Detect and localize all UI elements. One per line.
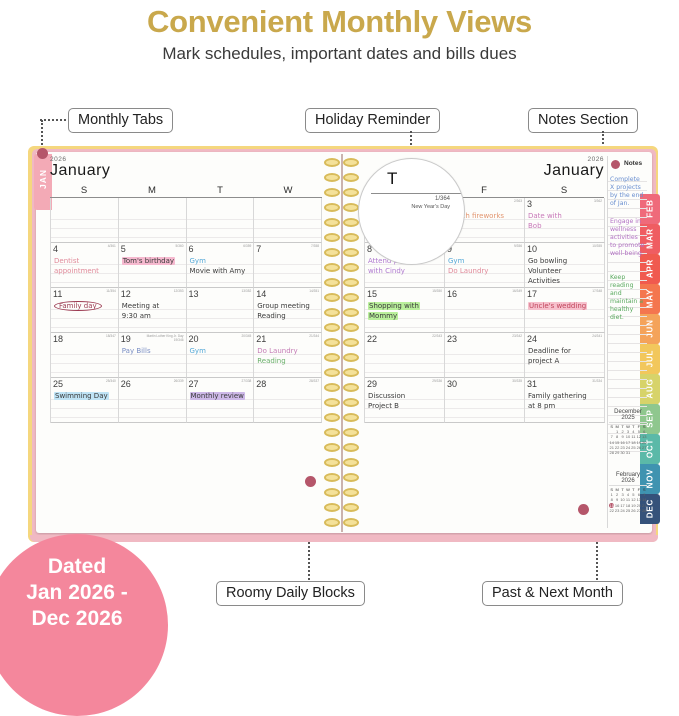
mini-cal-day[interactable]: 25 (631, 445, 636, 450)
day-of-year-and-holiday: 10/355 (592, 245, 602, 249)
day-event[interactable]: Meeting at (122, 302, 184, 312)
mini-cal-day[interactable] (642, 450, 647, 455)
mini-cal-day[interactable]: 12 (631, 497, 636, 502)
note-rule-line (608, 389, 647, 398)
event-text: Gym (448, 257, 464, 265)
day-of-year-and-holiday: Martin Luther King Jr. Day19/346 (147, 335, 184, 342)
cell-rule-lines (119, 211, 186, 242)
day-of-year-and-holiday: 29/336 (432, 380, 442, 384)
calendar-week-row: 44/361Dentistappointment55/360Tom's birt… (51, 243, 322, 288)
day-of-year-and-holiday: 9/356 (514, 245, 522, 249)
event-text: Monthly review (190, 392, 245, 400)
event-text: Discussion (368, 392, 405, 400)
mini-cal-day[interactable]: 30 (620, 450, 625, 455)
day-event[interactable]: appointment (54, 267, 116, 277)
calendar-day-cell[interactable]: 55/360Tom's birthday (119, 243, 187, 288)
calendar-day-cell[interactable]: 19Martin Luther King Jr. Day19/346Pay Bi… (119, 333, 187, 378)
mini-cal-day[interactable]: 25 (625, 508, 630, 513)
mini-cal-day[interactable]: 13 (636, 497, 641, 502)
day-number: 15 (367, 289, 377, 299)
calendar-day-cell[interactable]: 44/361Dentistappointment (51, 243, 119, 288)
day-number: 13 (189, 289, 199, 299)
mini-calendar-table: SMTWTFS123456789101112131415161718192021… (609, 424, 647, 455)
day-event[interactable]: Bob (528, 222, 602, 232)
calendar-day-cell[interactable] (119, 198, 187, 243)
cell-rule-lines (51, 211, 118, 242)
calendar-day-cell[interactable]: 1414/351Group meetingReading (254, 288, 322, 333)
calendar-day-cell[interactable]: 2323/342 (445, 333, 525, 378)
calendar-day-cell[interactable]: 1818/347 (51, 333, 119, 378)
spiral-coil (324, 338, 360, 347)
event-text: Go bowling (528, 257, 567, 265)
calendar-day-cell[interactable]: 3030/335 (445, 378, 525, 423)
calendar-week-row: 1818/34719Martin Luther King Jr. Day19/3… (51, 333, 322, 378)
calendar-day-cell[interactable]: 2727/338Monthly review (187, 378, 255, 423)
mini-cal-day[interactable]: 26 (631, 508, 636, 513)
mini-cal-day[interactable]: 10 (620, 497, 625, 502)
calendar-day-cell[interactable]: 33/362Date withBob (525, 198, 605, 243)
mini-cal-day[interactable]: 10 (625, 434, 630, 439)
page-left-month: January (50, 162, 322, 180)
mini-cal-day[interactable]: 11 (631, 434, 636, 439)
day-of-year-and-holiday: 20/345 (242, 335, 252, 339)
day-number: 31 (527, 379, 537, 389)
spiral-coil (324, 353, 360, 362)
calendar-day-cell[interactable]: 2525/340Swimming Day (51, 378, 119, 423)
magnifier-holiday-name: New Year's Day (411, 204, 450, 210)
calendar-grid-left[interactable]: 44/361Dentistappointment55/360Tom's birt… (50, 198, 322, 423)
badge-line-2: Jan 2026 - (0, 580, 168, 606)
note-rule-line (608, 398, 647, 407)
day-number: 6 (189, 244, 194, 254)
cell-rule-lines (119, 391, 186, 422)
calendar-day-cell[interactable]: 1010/355Go bowlingVolunteerActivities (525, 243, 605, 288)
day-event[interactable]: Mommy (368, 312, 442, 322)
event-text: Family gathering (528, 392, 587, 400)
event-text: Deadline for (528, 347, 571, 355)
note-rule-line (608, 326, 647, 335)
calendar-day-cell[interactable]: 2929/336DiscussionProject B (365, 378, 445, 423)
marker-dot-daily-blocks (305, 476, 316, 487)
weekday-left: T (186, 185, 254, 196)
event-text: with Cindy (368, 267, 405, 275)
mini-cal-day[interactable]: 23 (614, 508, 619, 513)
marker-dot-monthly-tabs (37, 148, 48, 159)
weekday-header-left: SMTW (50, 185, 322, 198)
dated-range-text: Dated Jan 2026 - Dec 2026 (0, 554, 168, 632)
day-of-year-and-holiday: 28/337 (309, 380, 319, 384)
day-event[interactable]: 9:30 am (122, 312, 184, 322)
day-number: 19 (121, 334, 131, 344)
day-of-year-and-holiday: 15/350 (432, 290, 442, 294)
cell-rule-lines (445, 301, 524, 332)
page-left-header: 2026 January (50, 156, 322, 180)
spiral-coil (324, 398, 360, 407)
mini-cal-day[interactable]: 13 (642, 434, 647, 439)
badge-line-3: Dec 2026 (0, 606, 168, 632)
day-event[interactable]: Project B (368, 402, 442, 412)
day-event[interactable]: Movie with Amy (190, 267, 252, 277)
leader-monthly-tabs-h (40, 119, 66, 121)
weekday-left: S (50, 185, 118, 196)
planner-cover-bottom-edge (30, 535, 658, 542)
spiral-coil (324, 173, 360, 182)
day-of-year-and-holiday: 7/358 (311, 245, 319, 249)
day-of-year-and-holiday: 21/344 (309, 335, 319, 339)
event-text: Family day (54, 301, 102, 311)
cell-rule-lines (254, 211, 321, 242)
day-event[interactable]: project A (528, 357, 602, 367)
event-text: at 8 pm (528, 402, 555, 410)
event-text: Swimming Day (54, 392, 109, 400)
event-text: Date with (528, 212, 562, 220)
holiday-reminder-magnifier: T 1/364 New Year's Day (358, 158, 465, 265)
day-event[interactable]: Discussion (368, 392, 442, 402)
mini-calendar-table: SMTWTFS123456789101112131415161718192021… (609, 487, 647, 513)
mini-cal-day[interactable]: 24 (620, 508, 625, 513)
calendar-week-row: 2929/336DiscussionProject B3030/3353131/… (365, 378, 605, 423)
cell-rule-lines (365, 346, 444, 377)
event-text: Activities (528, 277, 560, 285)
cell-rule-lines (254, 391, 321, 422)
event-text: Group meeting (257, 302, 310, 310)
weekday-left: M (118, 185, 186, 196)
mini-cal-day[interactable]: 27 (642, 445, 647, 450)
day-of-year-and-holiday: 2/363 (514, 200, 522, 204)
badge-line-1: Dated (0, 554, 168, 580)
spiral-coil (324, 323, 360, 332)
month-tab-jan-label: JAN (38, 160, 48, 198)
day-event[interactable]: Date with (528, 212, 602, 222)
day-of-year-and-holiday: 25/340 (106, 380, 116, 384)
calendar-day-cell[interactable]: 99/356GymDo Laundry (445, 243, 525, 288)
mini-cal-day[interactable]: 11 (625, 497, 630, 502)
event-text: Pay Bills (122, 347, 151, 355)
day-event[interactable]: Dentist (54, 257, 116, 267)
calendar-day-cell[interactable]: 1616/349 (445, 288, 525, 333)
day-of-year-and-holiday: 14/351 (309, 290, 319, 294)
note-rule-line (608, 209, 647, 218)
day-number: 17 (527, 289, 537, 299)
day-number: 28 (256, 379, 266, 389)
calendar-day-cell[interactable] (187, 198, 255, 243)
day-number: 29 (367, 379, 377, 389)
day-number: 7 (256, 244, 261, 254)
day-event[interactable]: Family day (54, 302, 116, 312)
calendar-day-cell[interactable]: 2828/337 (254, 378, 322, 423)
day-number: 22 (367, 334, 377, 344)
calendar-day-cell[interactable]: 1515/350Shopping withMommy (365, 288, 445, 333)
note-rule-line (608, 335, 647, 344)
day-number: 18 (53, 334, 63, 344)
day-number: 16 (447, 289, 457, 299)
note-entry[interactable]: Keep reading and maintain a healthy diet… (610, 274, 646, 322)
event-text: Mommy (368, 312, 398, 320)
calendar-day-cell[interactable]: 2020/345Gym (187, 333, 255, 378)
callout-past-next-month: Past & Next Month (482, 581, 623, 606)
event-text: Gym (190, 257, 206, 265)
day-number: 25 (53, 379, 63, 389)
day-number: 20 (189, 334, 199, 344)
calendar-week-row: 2222/3432323/3422424/341Deadline forproj… (365, 333, 605, 378)
day-of-year-and-holiday: 16/349 (512, 290, 522, 294)
event-text: Uncle's wedding (528, 302, 587, 310)
calendar-day-cell[interactable]: 2424/341Deadline forproject A (525, 333, 605, 378)
callout-notes-section: Notes Section (528, 108, 638, 133)
planner-spread: JAN FEBMARAPRMAYJUNJULAUGSEPOCTNOVDEC 20… (28, 146, 658, 546)
day-of-year-and-holiday: 17/348 (592, 290, 602, 294)
spiral-binding (324, 154, 360, 532)
cell-rule-lines (445, 346, 524, 377)
day-event[interactable]: Reading (257, 357, 319, 367)
event-text: Shopping with (368, 302, 420, 310)
mini-calendar-title: December 2025 (609, 409, 647, 423)
day-event[interactable]: Swimming Day (54, 392, 116, 402)
callout-roomy-daily-blocks: Roomy Daily Blocks (216, 581, 365, 606)
calendar-day-cell[interactable]: 1212/353Meeting at9:30 am (119, 288, 187, 333)
calendar-day-cell[interactable]: 2222/343 (365, 333, 445, 378)
event-text: appointment (54, 267, 99, 275)
spiral-coil (324, 518, 360, 527)
calendar-day-cell[interactable]: 77/358 (254, 243, 322, 288)
notes-section[interactable]: Notes Complete X projects by the end of … (607, 156, 647, 528)
spiral-coil (324, 413, 360, 422)
note-rule-line (608, 263, 647, 272)
spiral-coil (324, 248, 360, 257)
mini-cal-day[interactable]: 31 (625, 450, 630, 455)
notes-dot-icon (611, 160, 620, 169)
event-text: Reading (257, 312, 285, 320)
spiral-coil (324, 203, 360, 212)
event-text: Do Laundry (257, 347, 297, 355)
spiral-coil (324, 503, 360, 512)
event-text: project A (528, 357, 559, 365)
mini-cal-day[interactable]: 28 (609, 450, 614, 455)
event-text: Project B (368, 402, 399, 410)
day-event[interactable]: Tom's birthday (122, 257, 184, 267)
calendar-day-cell[interactable]: 2121/344Do LaundryReading (254, 333, 322, 378)
spiral-coil (324, 218, 360, 227)
day-event[interactable]: Deadline for (528, 347, 602, 357)
calendar-day-cell[interactable]: 66/359GymMovie with Amy (187, 243, 255, 288)
day-of-year-and-holiday: 18/347 (106, 335, 116, 339)
day-of-year-and-holiday: 27/338 (242, 380, 252, 384)
callout-holiday-reminder: Holiday Reminder (305, 108, 440, 133)
spiral-coil (324, 188, 360, 197)
day-event[interactable]: Reading (257, 312, 319, 322)
day-event[interactable]: Group meeting (257, 302, 319, 312)
day-event[interactable]: Pay Bills (122, 347, 184, 357)
day-event[interactable]: Activities (528, 277, 602, 287)
spiral-coil (324, 233, 360, 242)
mini-calendar: December 2025SMTWTFS12345678910111213141… (609, 409, 647, 455)
notes-title: Notes (624, 160, 642, 167)
day-event[interactable]: Gym (448, 257, 522, 267)
day-event[interactable]: Do Laundry (257, 347, 319, 357)
calendar-page-left: 2026 January SMTW 44/361Dentistappointme… (50, 156, 322, 528)
day-of-year-and-holiday: 13/352 (242, 290, 252, 294)
mini-cal-day[interactable]: 12 (636, 434, 641, 439)
day-event[interactable]: Uncle's wedding (528, 302, 602, 312)
calendar-week-row: 2525/340Swimming Day2626/3392727/338Mont… (51, 378, 322, 423)
magnifier-weekday: T (387, 169, 397, 189)
mini-calendar: February 2026SMTWTFS12345678910111213141… (609, 472, 647, 513)
calendar-week-row (51, 198, 322, 243)
note-rule-line (608, 371, 647, 380)
day-of-year-and-holiday: 23/342 (512, 335, 522, 339)
spiral-coil (324, 458, 360, 467)
day-of-year-and-holiday: 22/343 (432, 335, 442, 339)
day-of-year-and-holiday: 12/353 (174, 290, 184, 294)
event-text: Bob (528, 222, 542, 230)
cell-rule-lines (187, 301, 254, 332)
day-number: 10 (527, 244, 537, 254)
cell-rule-lines (51, 346, 118, 377)
calendar-day-cell[interactable]: 3131/334Family gatheringat 8 pm (525, 378, 605, 423)
day-of-year-and-holiday: 26/339 (174, 380, 184, 384)
day-event[interactable]: Gym (190, 347, 252, 357)
day-event[interactable]: at 8 pm (528, 402, 602, 412)
mini-cal-day[interactable]: 22 (609, 508, 614, 513)
event-text: 9:30 am (122, 312, 151, 320)
day-number: 24 (527, 334, 537, 344)
mini-cal-day[interactable]: 26 (636, 445, 641, 450)
calendar-day-cell[interactable]: 1313/352 (187, 288, 255, 333)
day-of-year-and-holiday: 24/341 (592, 335, 602, 339)
note-entry[interactable]: Complete X projects by the end of Jan. (610, 176, 646, 208)
mini-cal-day[interactable]: 28 (642, 508, 647, 513)
cell-rule-lines (445, 391, 524, 422)
spiral-coil (324, 443, 360, 452)
calendar-day-cell[interactable]: 1717/348Uncle's wedding (525, 288, 605, 333)
cell-rule-lines (254, 256, 321, 287)
calendar-day-cell[interactable]: 1111/354Family day (51, 288, 119, 333)
calendar-week-row: 1515/350Shopping withMommy1616/3491717/3… (365, 288, 605, 333)
note-rule-line (608, 362, 647, 371)
day-number: 23 (447, 334, 457, 344)
marker-dot-past-next-month (578, 504, 589, 515)
day-number: 26 (121, 379, 131, 389)
day-event[interactable]: Gym (190, 257, 252, 267)
day-number: 11 (53, 289, 62, 299)
weekday-left: W (254, 185, 322, 196)
spiral-coil (324, 293, 360, 302)
note-rule-line (608, 380, 647, 389)
day-event[interactable]: Shopping with (368, 302, 442, 312)
spiral-coil (324, 158, 360, 167)
day-event[interactable]: Go bowling (528, 257, 602, 267)
page-title: Convenient Monthly Views (0, 4, 679, 40)
magnifier-rule (371, 193, 463, 194)
day-of-year-and-holiday: 31/334 (592, 380, 602, 384)
spiral-coil (324, 473, 360, 482)
day-number: 30 (447, 379, 457, 389)
event-text: Do Laundry (448, 267, 488, 275)
spiral-coil (324, 263, 360, 272)
event-text: Movie with Amy (190, 267, 246, 275)
mini-cal-day[interactable]: 29 (614, 450, 619, 455)
event-text: Dentist (54, 257, 79, 265)
calendar-week-row: 1111/354Family day1212/353Meeting at9:30… (51, 288, 322, 333)
spiral-coil (324, 428, 360, 437)
day-of-year-and-holiday: 30/335 (512, 380, 522, 384)
day-number: 21 (256, 334, 266, 344)
day-event[interactable]: Monthly review (190, 392, 252, 402)
day-number: 5 (121, 244, 126, 254)
day-number: 4 (53, 244, 58, 254)
event-text: Volunteer (528, 267, 562, 275)
spiral-coil (324, 278, 360, 287)
dated-range-badge: Dated Jan 2026 - Dec 2026 (0, 534, 168, 716)
spiral-coil (324, 488, 360, 497)
event-text: Tom's birthday (122, 257, 175, 265)
spiral-coil (324, 368, 360, 377)
notes-header: Notes (608, 156, 647, 173)
mini-cal-day[interactable]: 27 (636, 508, 641, 513)
day-event[interactable]: Volunteer (528, 267, 602, 277)
cell-rule-lines (187, 211, 254, 242)
day-number: 3 (527, 199, 532, 209)
day-number: 12 (121, 289, 131, 299)
day-of-year-and-holiday: 5/360 (176, 245, 184, 249)
calendar-day-cell[interactable] (254, 198, 322, 243)
event-text: Reading (257, 357, 285, 365)
mini-calendar-title: February 2026 (609, 472, 647, 486)
day-of-year-and-holiday: 6/359 (243, 245, 251, 249)
calendar-day-cell[interactable] (51, 198, 119, 243)
event-text: Meeting at (122, 302, 159, 310)
day-event[interactable]: Family gathering (528, 392, 602, 402)
day-of-year-and-holiday: 11/354 (106, 290, 116, 294)
day-number: 27 (189, 379, 199, 389)
note-rule-line (608, 353, 647, 362)
day-event[interactable]: with Cindy (368, 267, 442, 277)
note-rule-line (608, 344, 647, 353)
event-text: Gym (190, 347, 206, 355)
spiral-coil (324, 383, 360, 392)
magnifier-day-of-year: 1/364 (435, 196, 450, 202)
note-entry[interactable]: Engage in wellness activities to promote… (610, 218, 646, 258)
mini-cal-day[interactable]: 14 (642, 497, 647, 502)
day-number: 14 (256, 289, 266, 299)
day-of-year-and-holiday: 4/361 (108, 245, 116, 249)
day-of-year-and-holiday: 3/362 (594, 200, 602, 204)
callout-monthly-tabs: Monthly Tabs (68, 108, 173, 133)
spiral-coil (324, 308, 360, 317)
page-subtitle: Mark schedules, important dates and bill… (0, 44, 679, 64)
weekday-right: S (524, 185, 604, 196)
day-event[interactable]: Do Laundry (448, 267, 522, 277)
calendar-day-cell[interactable]: 2626/339 (119, 378, 187, 423)
